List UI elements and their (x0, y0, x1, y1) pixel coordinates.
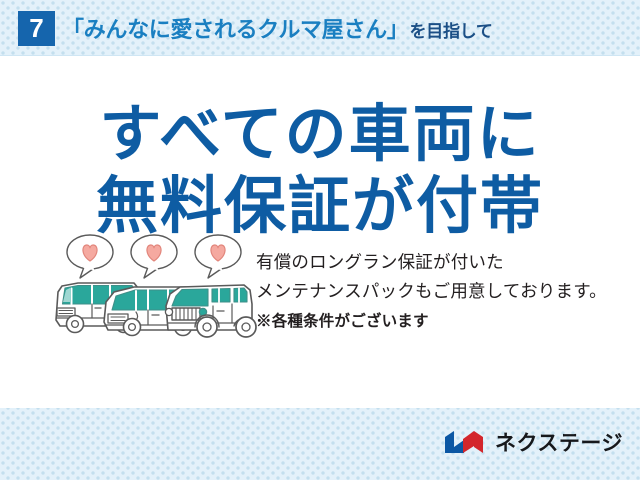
description-line-2: メンテナンスパックもご用意しております。 (256, 277, 632, 306)
speech-bubble-2 (131, 235, 177, 278)
slide-footer: ネクステージ (0, 408, 640, 480)
header-title-suffix: を目指して (410, 17, 493, 42)
description-line-1: 有償のロングラン保証が付いた (256, 248, 632, 277)
description-block: 有償のロングラン保証が付いた メンテナンスパックもご用意しております。 ※各種条… (256, 248, 632, 336)
headline-line-1: すべての車両に (0, 104, 640, 166)
headline-line-2: 無料保証が付帯 (0, 176, 640, 238)
cars-illustration (48, 230, 268, 350)
nextage-n-icon (443, 428, 487, 456)
slide-header: 7 「みんなに愛されるクルマ屋さん」 を目指して (0, 0, 640, 56)
header-title: 「みんなに愛されるクルマ屋さん」 を目指して (62, 12, 493, 46)
brand-logo: ネクステージ (443, 426, 623, 458)
section-number-badge: 7 (18, 11, 55, 46)
speech-bubble-1 (67, 235, 113, 278)
promo-slide: 7 「みんなに愛されるクルマ屋さん」 を目指して すべての車両に 無料保証が付帯 (0, 0, 640, 480)
speech-bubble-3 (195, 235, 241, 278)
car-suv (165, 285, 256, 337)
header-title-main: 「みんなに愛されるクルマ屋さん」 (62, 12, 409, 44)
description-note: ※各種条件がございます (256, 308, 632, 336)
brand-name: ネクステージ (495, 427, 623, 457)
